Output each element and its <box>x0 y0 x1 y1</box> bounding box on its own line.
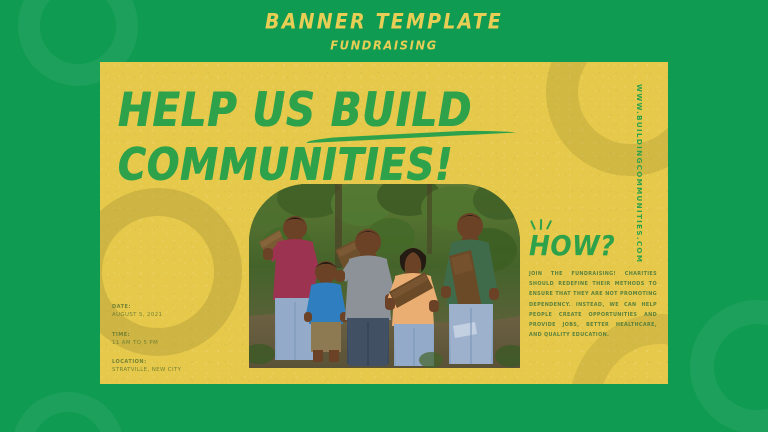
how-body-text: JOIN THE FUNDRAISING! CHARITIES SHOULD R… <box>529 269 657 340</box>
background-blob-bottomleft <box>12 392 124 432</box>
header-title: BANNER TEMPLATE <box>0 11 768 34</box>
time-label: TIME: <box>112 331 232 339</box>
detail-row-time: TIME: 11 AM TO 5 PM <box>112 331 232 348</box>
event-details: DATE: AUGUST 5, 2021 TIME: 11 AM TO 5 PM… <box>112 303 232 386</box>
background-blob-right <box>690 300 768 432</box>
header-subtitle: FUNDRAISING <box>0 37 768 52</box>
website-url[interactable]: WWW.BUILDINGCOMMUNITIES.COM <box>635 84 644 263</box>
detail-row-date: DATE: AUGUST 5, 2021 <box>112 303 232 320</box>
headline-line-1: HELP US BUILD <box>118 88 538 134</box>
location-value: STRATVILLE, NEW CITY <box>112 366 232 375</box>
headline-line-2: COMMUNITIES! <box>118 143 538 187</box>
header: BANNER TEMPLATE FUNDRAISING <box>0 12 768 52</box>
location-label: LOCATION: <box>112 358 232 366</box>
banner-poster: BANNER TEMPLATE FUNDRAISING HELP US BUIL… <box>0 0 768 432</box>
headline: HELP US BUILD COMMUNITIES! <box>118 88 538 180</box>
date-label: DATE: <box>112 303 232 311</box>
detail-row-location: LOCATION: STRATVILLE, NEW CITY <box>112 358 232 375</box>
date-value: AUGUST 5, 2021 <box>112 311 232 320</box>
group-photo <box>249 184 520 368</box>
ring-watermark-top <box>546 62 668 176</box>
time-value: 11 AM TO 5 PM <box>112 339 232 348</box>
